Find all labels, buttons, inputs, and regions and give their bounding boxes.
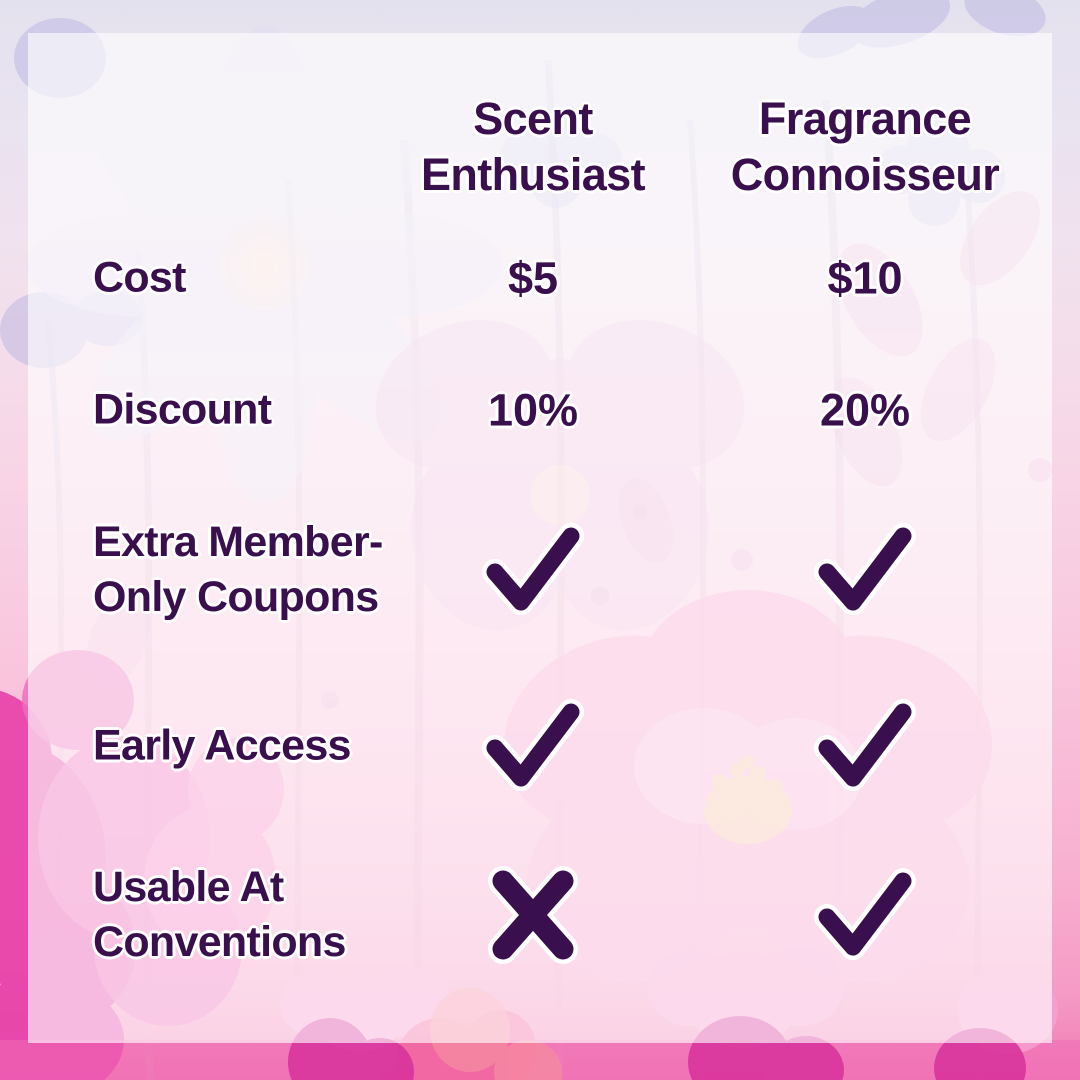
comparison-table: Scent Enthusiast Fragrance Connoisseur C…	[28, 33, 1052, 1043]
cell-cost-fragrance-connoisseur: $10	[700, 256, 1030, 301]
row-label-usable-at-conventions: Usable At Conventions	[93, 860, 443, 970]
cell-coupons-fragrance-connoisseur-check-icon	[805, 510, 925, 630]
row-label-line2: Only Coupons	[93, 570, 443, 625]
cell-early-access-fragrance-connoisseur-check-icon	[805, 686, 925, 806]
cell-conventions-fragrance-connoisseur-check-icon	[805, 855, 925, 975]
cell-conventions-scent-enthusiast-cross-icon	[473, 855, 593, 975]
comparison-infographic: Scent Enthusiast Fragrance Connoisseur C…	[0, 0, 1080, 1080]
table-header-row: Scent Enthusiast Fragrance Connoisseur	[28, 91, 1052, 211]
column-header-line1: Fragrance	[700, 91, 1030, 147]
column-header-scent-enthusiast: Scent Enthusiast	[378, 91, 688, 203]
cell-discount-fragrance-connoisseur: 20%	[700, 388, 1030, 433]
row-label-line1: Early Access	[93, 718, 443, 773]
column-header-line2: Enthusiast	[378, 147, 688, 203]
cell-cost-scent-enthusiast: $5	[378, 256, 688, 301]
cell-discount-scent-enthusiast: 10%	[378, 388, 688, 433]
column-header-fragrance-connoisseur: Fragrance Connoisseur	[700, 91, 1030, 203]
column-header-line1: Scent	[378, 91, 688, 147]
row-label-line2: Conventions	[93, 915, 443, 970]
row-label-extra-member-only-coupons: Extra Member- Only Coupons	[93, 515, 443, 625]
cell-coupons-scent-enthusiast-check-icon	[473, 510, 593, 630]
row-label-line1: Extra Member-	[93, 515, 443, 570]
row-label-line1: Usable At	[93, 860, 443, 915]
column-header-line2: Connoisseur	[700, 147, 1030, 203]
cell-early-access-scent-enthusiast-check-icon	[473, 686, 593, 806]
row-label-early-access: Early Access	[93, 718, 443, 773]
